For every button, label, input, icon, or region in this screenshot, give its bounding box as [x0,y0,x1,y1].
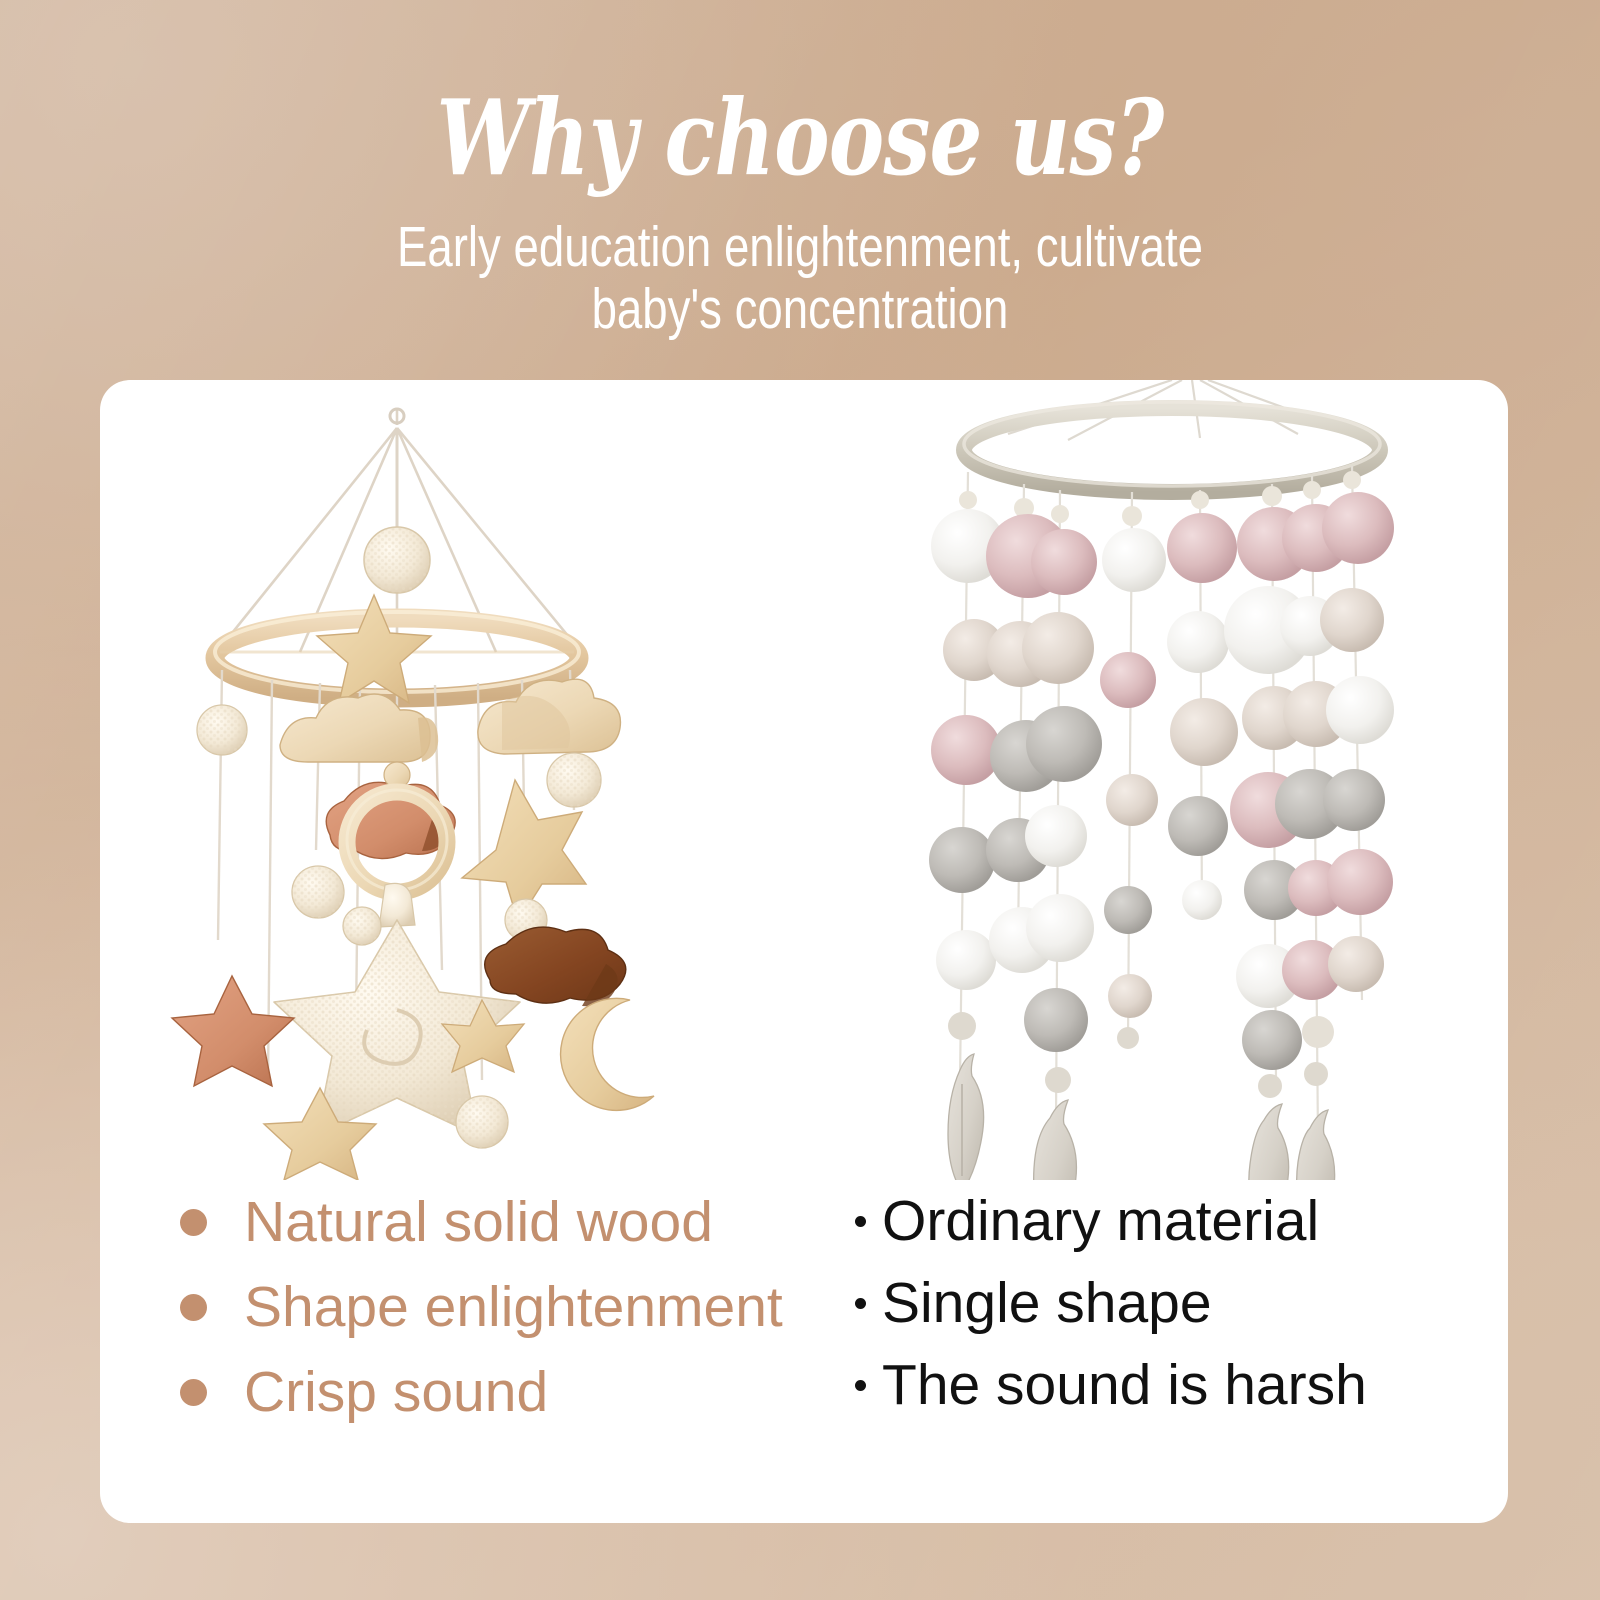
filled-circle-bullet-icon [180,1209,207,1236]
small-dot-bullet-icon [855,1216,866,1227]
felt-ball-baby-mobile-illustration [900,380,1460,1180]
product-image-ours [160,380,820,1180]
bullet-label-shape-enlightenment: Shape enlightenment [244,1279,783,1336]
wooden-baby-mobile-illustration [160,380,820,1180]
feather-pendant [948,1054,984,1180]
bullet-list-theirs: Ordinary material Single shape The sound… [840,1180,1480,1426]
product-photo-row [100,380,1508,1180]
wooden-crescent-moon [561,998,654,1110]
felt-strand [1167,491,1238,920]
list-item: Natural solid wood [160,1180,860,1265]
bullet-label-ordinary-material: Ordinary material [882,1193,1319,1250]
list-item: Ordinary material [840,1180,1480,1262]
bullet-comparison: Natural solid wood Shape enlightenment C… [100,1180,1508,1523]
list-item: The sound is harsh [840,1344,1480,1426]
wooden-star-pink-bottom [172,976,294,1086]
filled-circle-bullet-icon [180,1379,207,1406]
crochet-ball-right [547,753,601,807]
crochet-ball-top-left [197,705,247,755]
list-item: Shape enlightenment [160,1265,860,1350]
felt-strand [1022,505,1102,1180]
page-title: Why choose us? [160,0,1440,190]
feather-pendant [1297,1110,1335,1180]
small-dot-bullet-icon [855,1380,866,1391]
crochet-ball-bottom-right [456,1096,508,1148]
list-item: Single shape [840,1262,1480,1344]
bullet-label-single-shape: Single shape [882,1275,1212,1332]
feather-pendant [1249,1104,1289,1180]
feather-pendant [1034,1100,1077,1180]
page-subtitle: Early education enlightenment, cultivate… [160,216,1440,340]
crochet-ball-small [343,907,381,945]
top-crochet-ball [364,428,430,593]
felt-strand [1100,506,1166,1049]
small-dot-bullet-icon [855,1298,866,1309]
bullet-label-crisp-sound: Crisp sound [244,1364,548,1421]
wooden-cloud-dark [485,927,626,1006]
bullet-list-ours: Natural solid wood Shape enlightenment C… [160,1180,860,1435]
header: Why choose us? Early education enlighten… [0,0,1600,380]
felt-mobile-ring [964,402,1380,492]
crochet-ball-bottom-left [292,866,344,918]
comparison-card: Natural solid wood Shape enlightenment C… [100,380,1508,1523]
filled-circle-bullet-icon [180,1294,207,1321]
bullet-label-natural-solid-wood: Natural solid wood [244,1194,713,1251]
bullet-label-sound-is-harsh: The sound is harsh [882,1357,1367,1414]
product-image-theirs [900,380,1460,1180]
list-item: Crisp sound [160,1350,860,1435]
